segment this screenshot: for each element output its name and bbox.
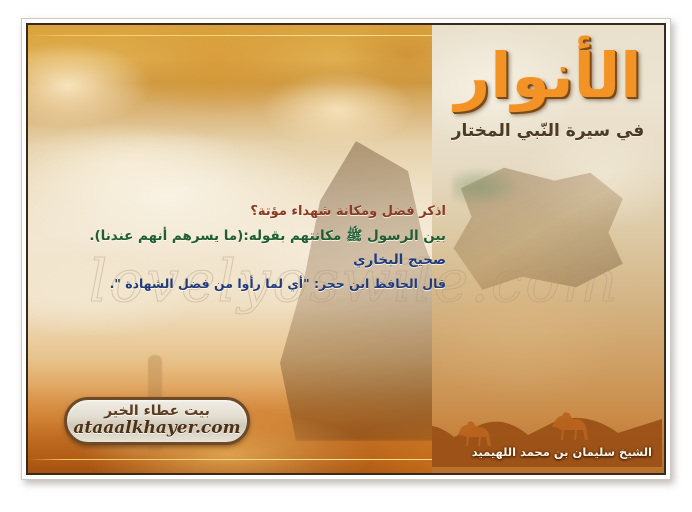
book-title: الأنوار xyxy=(432,37,664,115)
poster-frame: الأنوار في سيرة النّبي المختار الشيخ سلي… xyxy=(26,23,666,475)
source-line: صحيح البخاري xyxy=(36,248,446,272)
site-logo-badge[interactable]: بيت عطاء الخير ataaalkhayer.com xyxy=(64,397,250,445)
rock-green-tint xyxy=(452,167,522,207)
answer-line: بين الرسول ﷺ مكانتهم بقوله:(ما يسرهم أنه… xyxy=(36,224,446,248)
logo-arabic-name: بيت عطاء الخير xyxy=(104,404,210,419)
book-title-block: الأنوار في سيرة النّبي المختار xyxy=(432,37,664,141)
commentary-line: قال الحافظ ابن حجر: "أي لما رأوا من فضل … xyxy=(36,272,446,296)
book-subtitle: في سيرة النّبي المختار xyxy=(432,121,664,141)
author-credit: الشيخ سليمان بن محمد اللهيميد xyxy=(472,445,652,459)
book-cover-panel: الأنوار في سيرة النّبي المختار الشيخ سلي… xyxy=(432,25,664,473)
lesson-text-block: اذكر فضل ومكانة شهداء مؤتة؟ بين الرسول ﷺ… xyxy=(36,200,454,296)
question-line: اذكر فضل ومكانة شهداء مؤتة؟ xyxy=(36,200,446,224)
logo-website-url: ataaalkhayer.com xyxy=(73,419,240,439)
poster-root: الأنوار في سيرة النّبي المختار الشيخ سلي… xyxy=(0,0,692,512)
